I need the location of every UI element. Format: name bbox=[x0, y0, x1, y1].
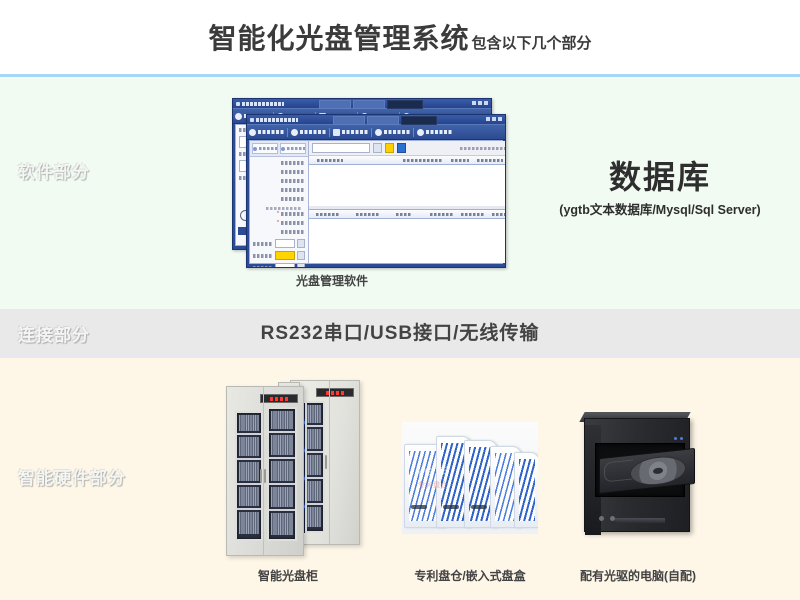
field-label bbox=[281, 212, 305, 216]
cabinet-shelf bbox=[269, 509, 295, 511]
disc-stack bbox=[239, 487, 259, 506]
front-bezel-strip bbox=[615, 518, 665, 523]
toolbar-label bbox=[342, 130, 368, 134]
disc-query-icon bbox=[333, 129, 340, 136]
cabinet-shelf bbox=[269, 457, 295, 459]
flag-button[interactable] bbox=[385, 143, 394, 153]
column-header[interactable] bbox=[492, 213, 506, 216]
cabinet-door-seam bbox=[263, 387, 264, 555]
section-label-hardware: 智能硬件部分 bbox=[18, 464, 126, 489]
toolbar-label bbox=[300, 130, 326, 134]
window-toolbar-front bbox=[247, 124, 505, 140]
form-input-group bbox=[250, 239, 308, 268]
column-header[interactable] bbox=[317, 159, 343, 162]
hardware-image-cabinet bbox=[216, 376, 361, 554]
form-row bbox=[253, 188, 305, 192]
form-row-required: * bbox=[253, 221, 305, 225]
window-tab-active[interactable] bbox=[401, 116, 437, 125]
form-row-required: * bbox=[253, 212, 305, 216]
tray-notch bbox=[411, 505, 427, 509]
cabinet-shelf bbox=[237, 433, 261, 435]
led-display bbox=[260, 394, 298, 403]
disc-hub bbox=[653, 467, 663, 474]
toolbar-label bbox=[426, 130, 452, 134]
window-title-text bbox=[256, 118, 298, 122]
form-input-row bbox=[253, 263, 305, 268]
led-display bbox=[316, 388, 354, 397]
form-tab-detail[interactable] bbox=[280, 143, 306, 154]
disc-stack bbox=[271, 411, 293, 429]
section-label-software: 软件部分 bbox=[18, 158, 90, 183]
form-panel: * * bbox=[250, 141, 309, 263]
led-segment bbox=[270, 397, 273, 401]
field-label bbox=[281, 230, 305, 234]
window-tab[interactable] bbox=[353, 100, 385, 109]
window-tab-active[interactable] bbox=[387, 100, 423, 109]
cabinet-shelf bbox=[237, 508, 261, 510]
tab-label bbox=[287, 147, 305, 150]
column-header[interactable] bbox=[403, 159, 443, 162]
toolbar-separator bbox=[329, 128, 330, 137]
toolbar-button[interactable] bbox=[249, 129, 284, 136]
database-block: 数据库 (ygtb文本数据库/Mysql/Sql Server) bbox=[520, 160, 800, 218]
search-icon bbox=[417, 129, 424, 136]
text-field[interactable] bbox=[275, 263, 295, 268]
tab-label bbox=[259, 147, 277, 150]
cabinet-shelf bbox=[237, 483, 261, 485]
status-text bbox=[460, 147, 506, 150]
power-button[interactable] bbox=[599, 516, 604, 521]
disc-stack bbox=[271, 487, 293, 507]
led-segment bbox=[285, 397, 288, 401]
search-button[interactable] bbox=[373, 143, 382, 153]
window-tab[interactable] bbox=[367, 116, 399, 125]
database-subtitle: (ygtb文本数据库/Mysql/Sql Server) bbox=[520, 199, 800, 218]
column-header[interactable] bbox=[356, 213, 380, 216]
toolbar-button[interactable] bbox=[417, 129, 452, 136]
disc-tray bbox=[514, 452, 538, 528]
window-tabstrip-back bbox=[319, 100, 423, 109]
column-header[interactable] bbox=[461, 213, 485, 216]
required-marker: * bbox=[277, 212, 279, 216]
picker-button[interactable] bbox=[297, 263, 305, 268]
field-label bbox=[281, 197, 305, 201]
close-icon[interactable] bbox=[498, 117, 502, 121]
window-titlebar-front bbox=[247, 115, 505, 124]
form-tabstrip bbox=[250, 141, 308, 157]
form-input-row bbox=[253, 239, 305, 248]
disc-stack bbox=[239, 437, 259, 456]
disc-in-icon bbox=[235, 113, 242, 120]
picker-button[interactable] bbox=[297, 239, 305, 248]
disc-well bbox=[630, 454, 686, 488]
hardware-image-disc-tray: YGTB 专利盘仓 bbox=[402, 422, 538, 534]
gear-icon bbox=[375, 129, 382, 136]
text-field[interactable] bbox=[275, 239, 295, 248]
form-hint-text bbox=[266, 207, 302, 210]
computer-case bbox=[584, 418, 690, 532]
form-input-row-highlighted bbox=[253, 251, 305, 260]
detail-grid-header bbox=[309, 209, 506, 219]
records-grid-header bbox=[309, 156, 506, 165]
field-label bbox=[281, 179, 305, 183]
folder-button[interactable] bbox=[397, 143, 406, 153]
app-window-front: * * bbox=[246, 114, 506, 268]
front-buttons[interactable] bbox=[599, 516, 615, 521]
disc-in-icon bbox=[249, 129, 256, 136]
caption-disc-tray: 专利盘仓/嵌入式盘盒 bbox=[392, 567, 548, 584]
toolbar-separator bbox=[287, 128, 288, 137]
caption-cabinet: 智能光盘柜 bbox=[208, 567, 368, 584]
disc-stack bbox=[271, 513, 293, 535]
led-segment bbox=[336, 391, 339, 395]
window-app-icon bbox=[250, 118, 254, 122]
window-controls-front[interactable] bbox=[486, 117, 502, 121]
column-header[interactable] bbox=[430, 213, 454, 216]
field-label bbox=[281, 161, 305, 165]
connection-text: RS232串口/USB接口/无线传输 bbox=[0, 318, 800, 345]
window-tab[interactable] bbox=[333, 116, 365, 125]
column-header[interactable] bbox=[396, 213, 412, 216]
field-label bbox=[253, 242, 273, 246]
minimize-icon[interactable] bbox=[472, 101, 476, 105]
cabinet-door-seam bbox=[329, 381, 330, 544]
window-tabstrip-front bbox=[333, 116, 437, 125]
column-header[interactable] bbox=[451, 159, 469, 162]
poster-root: 智能化光盘管理系统 包含以下几个部分 软件部分 连接部分 智能硬件部分 bbox=[0, 0, 800, 600]
caption-computer: 配有光驱的电脑(自配) bbox=[558, 567, 718, 584]
tray-notch bbox=[443, 505, 459, 509]
cabinet-glass-door[interactable] bbox=[235, 411, 263, 541]
field-label bbox=[281, 188, 305, 192]
field-label bbox=[281, 170, 305, 174]
close-icon[interactable] bbox=[484, 101, 488, 105]
column-header[interactable] bbox=[316, 213, 340, 216]
page-title-sub: 包含以下几个部分 bbox=[472, 32, 592, 53]
form-rows: * * bbox=[250, 157, 308, 239]
toolbar-button[interactable] bbox=[375, 129, 410, 136]
watermark-text: YGTB bbox=[416, 465, 451, 479]
cabinet-handle[interactable] bbox=[264, 469, 266, 483]
text-field-highlighted[interactable] bbox=[275, 251, 295, 260]
window-app-icon bbox=[236, 102, 240, 106]
disc-stack bbox=[239, 512, 259, 534]
disc-out-icon bbox=[291, 129, 298, 136]
hardware-image-computer bbox=[568, 398, 700, 540]
cabinet-shelf bbox=[269, 483, 295, 485]
window-tab[interactable] bbox=[319, 100, 351, 109]
activity-led-icon bbox=[680, 437, 683, 440]
search-input[interactable] bbox=[312, 143, 370, 153]
minimize-icon[interactable] bbox=[486, 117, 490, 121]
cabinet-handle[interactable] bbox=[260, 469, 262, 483]
cabinet-handle[interactable] bbox=[325, 455, 327, 469]
toolbar-button[interactable] bbox=[333, 129, 368, 136]
toolbar-separator bbox=[413, 128, 414, 137]
maximize-icon[interactable] bbox=[492, 117, 496, 121]
field-label bbox=[253, 254, 273, 258]
form-row bbox=[253, 197, 305, 201]
picker-button[interactable] bbox=[297, 251, 305, 260]
led-segment bbox=[280, 397, 283, 401]
tray-arm bbox=[604, 459, 633, 482]
status-leds bbox=[674, 437, 683, 440]
toolbar-separator bbox=[371, 128, 372, 137]
form-row bbox=[253, 161, 305, 165]
cabinet-glass-door[interactable] bbox=[267, 407, 297, 541]
power-led-icon bbox=[674, 437, 677, 440]
required-marker: * bbox=[277, 221, 279, 225]
cabinet-shelf bbox=[237, 458, 261, 460]
column-header[interactable] bbox=[477, 159, 503, 162]
disc-stack bbox=[239, 415, 259, 431]
window-title-text bbox=[242, 102, 284, 106]
cabinet-shelf bbox=[269, 431, 295, 433]
tab-icon bbox=[253, 147, 257, 151]
field-label bbox=[281, 221, 305, 225]
disc-stack bbox=[271, 461, 293, 481]
caption-software: 光盘管理软件 bbox=[232, 272, 432, 289]
led-segment bbox=[341, 391, 344, 395]
tray-notch bbox=[471, 505, 487, 509]
led-segment bbox=[331, 391, 334, 395]
records-panel bbox=[309, 141, 506, 263]
form-row bbox=[253, 170, 305, 174]
form-row bbox=[253, 230, 305, 234]
led-segment bbox=[275, 397, 278, 401]
tab-icon bbox=[281, 147, 285, 151]
toolbar-label bbox=[384, 130, 410, 134]
detail-grid-body[interactable] bbox=[309, 219, 506, 263]
page-header: 智能化光盘管理系统 包含以下几个部分 bbox=[0, 0, 800, 74]
watermark-subtext: 专利盘仓 bbox=[418, 480, 448, 490]
toolbar-label bbox=[258, 130, 284, 134]
database-title: 数据库 bbox=[520, 160, 800, 195]
window-body-front: * * bbox=[249, 140, 503, 264]
tray-stripes bbox=[519, 459, 535, 521]
search-bar bbox=[309, 141, 506, 156]
software-screenshot-group: * * bbox=[232, 98, 532, 270]
window-titlebar-back bbox=[233, 99, 491, 108]
page-title: 智能化光盘管理系统 包含以下几个部分 bbox=[208, 17, 591, 57]
page-title-main: 智能化光盘管理系统 bbox=[208, 17, 469, 57]
disc-cabinet-left bbox=[226, 386, 304, 556]
disc-stack bbox=[239, 462, 259, 481]
window-controls-back[interactable] bbox=[472, 101, 488, 105]
form-tab-basic[interactable] bbox=[252, 143, 278, 154]
form-row bbox=[253, 179, 305, 183]
disc-stack bbox=[271, 435, 293, 455]
records-grid-body[interactable] bbox=[309, 165, 506, 206]
toolbar-button[interactable] bbox=[291, 129, 326, 136]
maximize-icon[interactable] bbox=[478, 101, 482, 105]
field-label bbox=[253, 266, 273, 269]
